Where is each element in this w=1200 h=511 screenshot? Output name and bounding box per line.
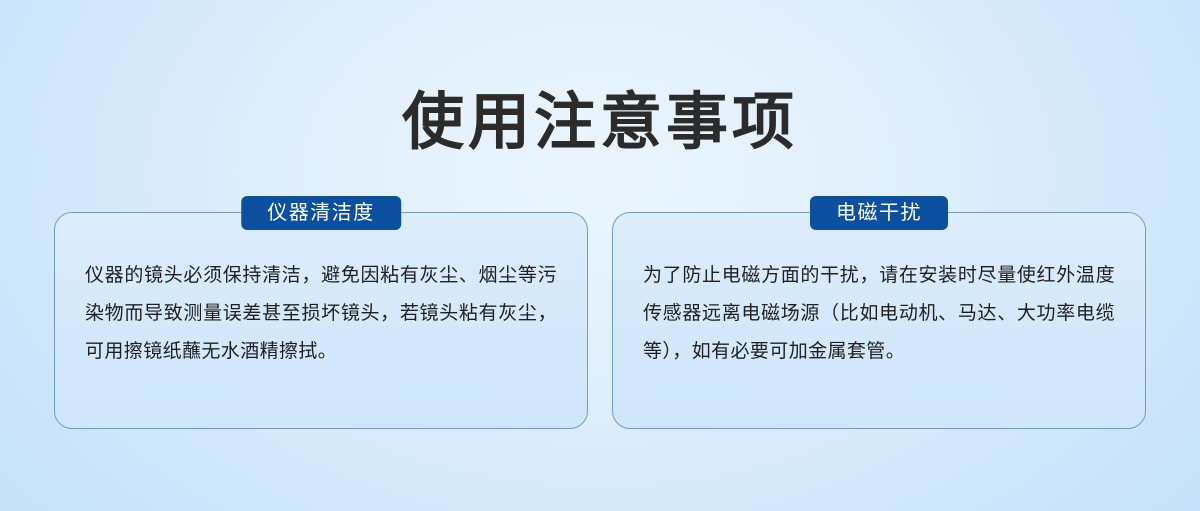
card-body-text: 仪器的镜头必须保持清洁，避免因粘有灰尘、烟尘等污染物而导致测量误差甚至损坏镜头，… xyxy=(85,257,557,371)
card-body-text: 为了防止电磁方面的干扰，请在安装时尽量使红外温度传感器远离电磁场源（比如电动机、… xyxy=(643,257,1115,371)
page-root: 使用注意事项 仪器清洁度 仪器的镜头必须保持清洁，避免因粘有灰尘、烟尘等污染物而… xyxy=(0,0,1200,511)
notice-card-electromagnetic-interference: 电磁干扰 为了防止电磁方面的干扰，请在安装时尽量使红外温度传感器远离电磁场源（比… xyxy=(612,212,1146,429)
notice-card-group: 仪器清洁度 仪器的镜头必须保持清洁，避免因粘有灰尘、烟尘等污染物而导致测量误差甚… xyxy=(54,212,1146,429)
notice-card-instrument-cleanliness: 仪器清洁度 仪器的镜头必须保持清洁，避免因粘有灰尘、烟尘等污染物而导致测量误差甚… xyxy=(54,212,588,429)
page-title: 使用注意事项 xyxy=(0,86,1200,160)
card-badge-instrument-cleanliness: 仪器清洁度 xyxy=(241,196,401,230)
card-body-electromagnetic-interference: 为了防止电磁方面的干扰，请在安装时尽量使红外温度传感器远离电磁场源（比如电动机、… xyxy=(643,257,1115,371)
card-badge-electromagnetic-interference: 电磁干扰 xyxy=(810,196,948,230)
card-body-instrument-cleanliness: 仪器的镜头必须保持清洁，避免因粘有灰尘、烟尘等污染物而导致测量误差甚至损坏镜头，… xyxy=(85,257,557,371)
